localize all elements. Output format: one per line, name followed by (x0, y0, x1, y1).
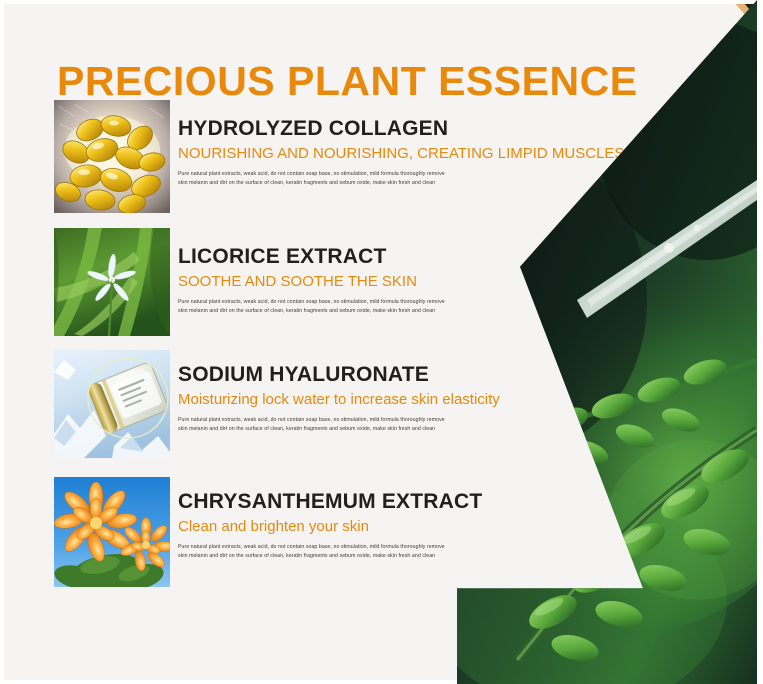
orange-chrysanthemum-blue-sky-photo (54, 477, 170, 587)
ingredient-body: Pure natural plant extracts, weak acid, … (178, 170, 450, 187)
ingredient-title: CHRYSANTHEMUM EXTRACT (178, 491, 648, 513)
ingredient-entry: CHRYSANTHEMUM EXTRACT Clean and brighten… (54, 477, 654, 592)
white-star-flower-green-leaves-photo (54, 228, 170, 336)
ingredient-body: Pure natural plant extracts, weak acid, … (178, 416, 450, 433)
golden-softgel-capsules-photo (54, 100, 170, 213)
ingredient-text-block: HYDROLYZED COLLAGEN NOURISHING AND NOURI… (178, 118, 648, 187)
cosmetic-jar-on-ice-photo (54, 350, 170, 458)
ingredient-text-block: CHRYSANTHEMUM EXTRACT Clean and brighten… (178, 491, 648, 560)
ingredient-subtitle: NOURISHING AND NOURISHING, CREATING LIMP… (178, 145, 648, 162)
ingredient-body: Pure natural plant extracts, weak acid, … (178, 298, 450, 315)
poster-canvas: PRECIOUS PLANT ESSENCE (0, 0, 763, 684)
ingredient-subtitle: Clean and brighten your skin (178, 518, 648, 535)
page-title: PRECIOUS PLANT ESSENCE (57, 58, 638, 105)
ingredient-entry: HYDROLYZED COLLAGEN NOURISHING AND NOURI… (54, 100, 654, 215)
ingredient-body: Pure natural plant extracts, weak acid, … (178, 543, 450, 560)
ingredient-title: HYDROLYZED COLLAGEN (178, 118, 648, 140)
